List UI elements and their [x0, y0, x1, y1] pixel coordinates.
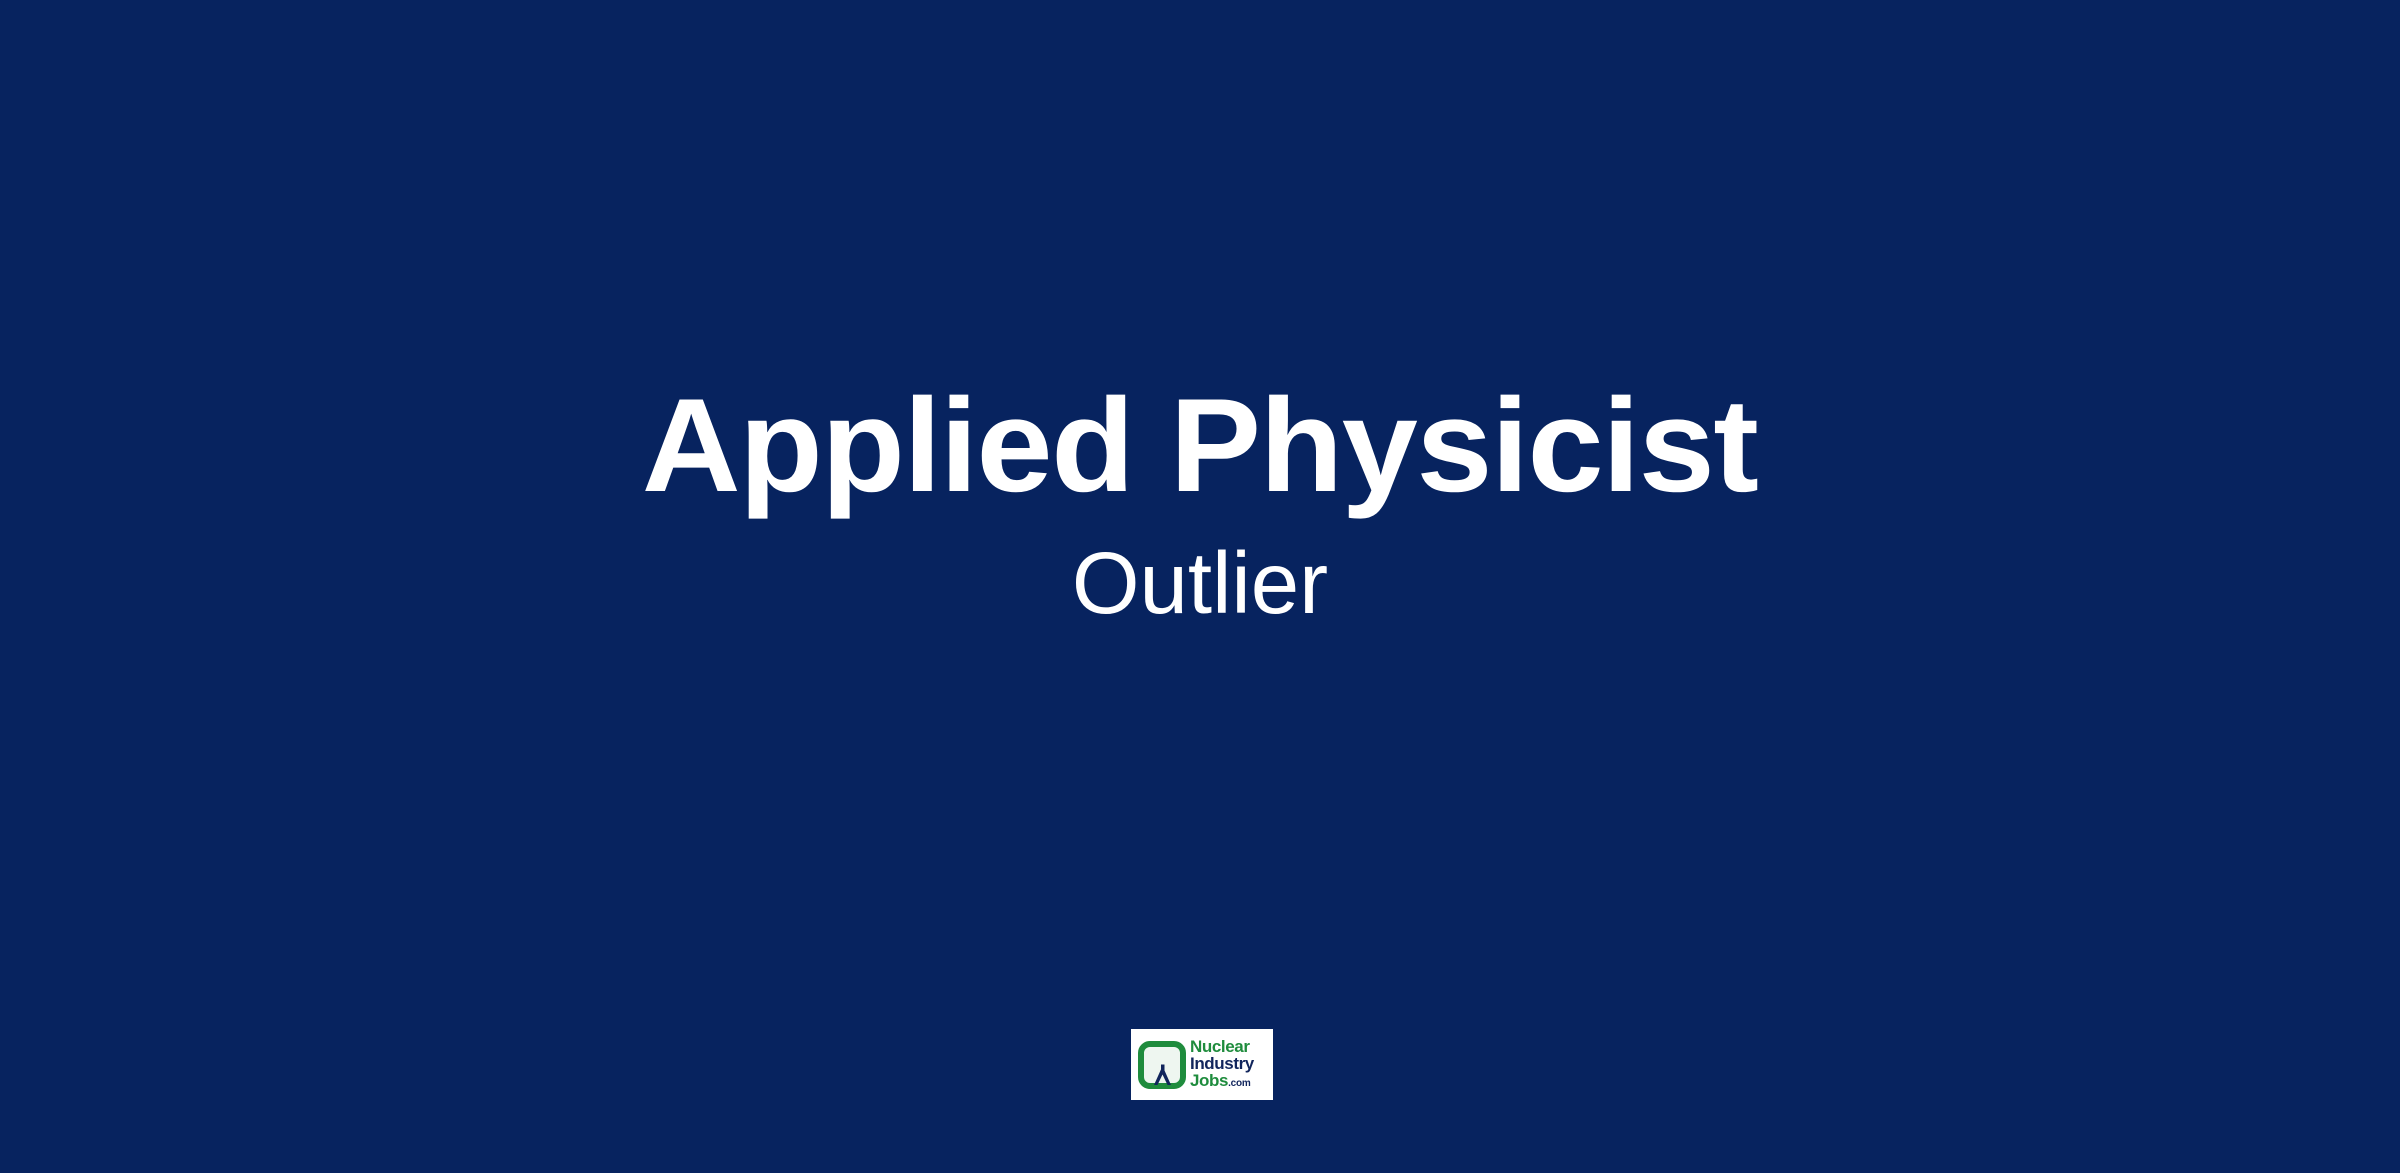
hero-section: Applied Physicist Outlier [0, 0, 2400, 1010]
brand-wordmark: Nuclear Industry Jobs.com [1190, 1038, 1254, 1092]
brand-line-jobs: Jobs.com [1190, 1072, 1254, 1092]
nuclear-industry-jobs-mark-icon [1137, 1040, 1187, 1090]
page-title: Applied Physicist [642, 377, 1758, 515]
company-name: Outlier [1072, 535, 1328, 632]
brand-line-nuclear: Nuclear [1190, 1038, 1254, 1055]
brand-line-industry: Industry [1190, 1055, 1254, 1072]
brand-line-jobs-text: Jobs [1190, 1071, 1228, 1090]
brand-logo[interactable]: Nuclear Industry Jobs.com [1131, 1029, 1273, 1100]
job-posting-card: Applied Physicist Outlier Nuclear Indust… [0, 0, 2400, 1173]
brand-tld: .com [1228, 1078, 1251, 1089]
